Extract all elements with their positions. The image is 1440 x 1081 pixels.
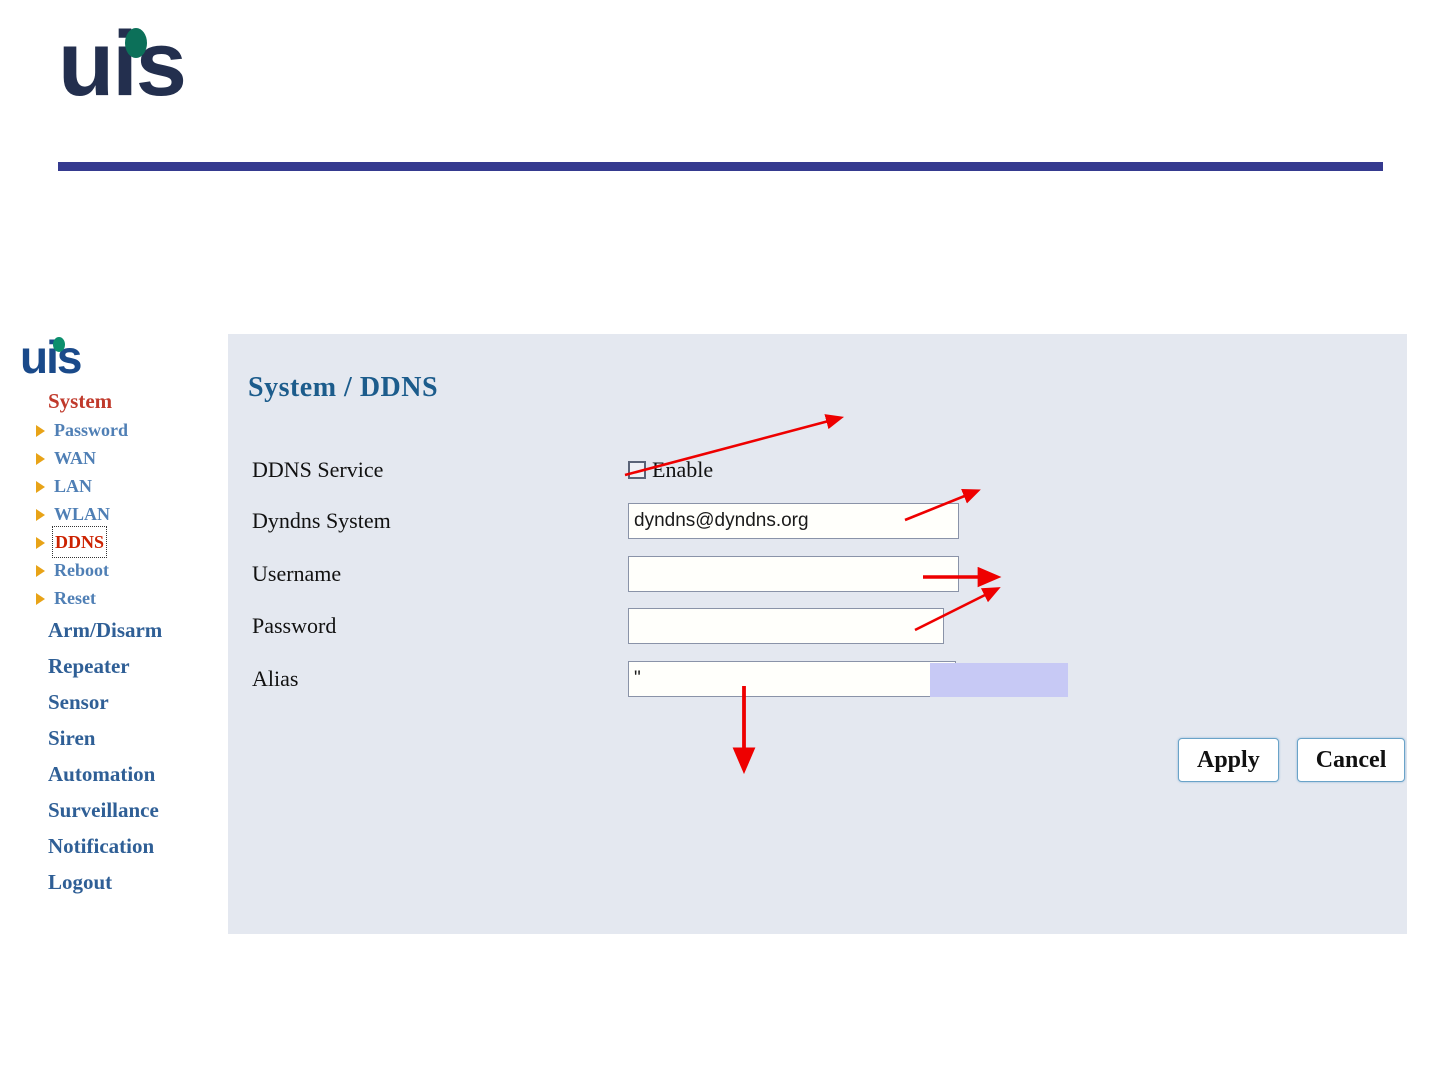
- sidebar-group-title-system: System: [0, 386, 220, 416]
- sidebar-mainnav: Arm/Disarm Repeater Sensor Siren Automat…: [0, 612, 220, 900]
- content-panel: System / DDNS DDNS Service Enable Dyndns…: [228, 334, 1407, 934]
- sidebar-item-lan[interactable]: LAN: [0, 472, 220, 500]
- form-row-alias: Alias: [252, 661, 1352, 697]
- sidebar-item-notification[interactable]: Notification: [0, 828, 220, 864]
- sidebar-item-label: Password: [54, 416, 128, 444]
- sidebar: uis System Password WAN LAN WLAN DDNS Re…: [0, 334, 220, 900]
- triangle-bullet-icon: [36, 565, 45, 577]
- logo-dot-icon: [125, 28, 147, 58]
- alias-input[interactable]: [628, 661, 956, 697]
- triangle-bullet-icon: [36, 537, 45, 549]
- sidebar-item-label: WLAN: [54, 500, 110, 528]
- triangle-bullet-icon: [36, 509, 45, 521]
- label-alias: Alias: [252, 661, 298, 697]
- label-ddns-service: DDNS Service: [252, 452, 383, 488]
- sidebar-logo-dot-icon: [53, 337, 65, 352]
- company-logo: uis: [58, 18, 218, 133]
- sidebar-logo-wordmark: uis: [20, 331, 80, 383]
- sidebar-item-wan[interactable]: WAN: [0, 444, 220, 472]
- label-dyndns-system: Dyndns System: [252, 503, 391, 539]
- sidebar-item-label: DDNS: [54, 528, 105, 556]
- enable-checkbox-wrapper[interactable]: Enable: [628, 452, 713, 488]
- sidebar-item-label: LAN: [54, 472, 92, 500]
- dyndns-system-input[interactable]: [628, 503, 959, 539]
- apply-button[interactable]: Apply: [1178, 738, 1279, 782]
- sidebar-item-arm-disarm[interactable]: Arm/Disarm: [0, 612, 220, 648]
- field-dyndns-system: [628, 503, 959, 539]
- sidebar-logo: uis: [20, 334, 220, 386]
- sidebar-item-password[interactable]: Password: [0, 416, 220, 444]
- sidebar-item-ddns[interactable]: DDNS: [0, 528, 220, 556]
- sidebar-item-sensor[interactable]: Sensor: [0, 684, 220, 720]
- username-input[interactable]: [628, 556, 959, 592]
- sidebar-subnav-system: Password WAN LAN WLAN DDNS Reboot Reset: [0, 416, 220, 612]
- sidebar-item-label: Reset: [54, 584, 96, 612]
- form-row-password: Password: [252, 608, 1352, 644]
- sidebar-item-label: Reboot: [54, 556, 109, 584]
- triangle-bullet-icon: [36, 481, 45, 493]
- sidebar-item-automation[interactable]: Automation: [0, 756, 220, 792]
- field-alias: [628, 661, 956, 697]
- enable-checkbox[interactable]: [628, 461, 646, 479]
- sidebar-item-surveillance[interactable]: Surveillance: [0, 792, 220, 828]
- sidebar-item-repeater[interactable]: Repeater: [0, 648, 220, 684]
- panel-actions: Apply Cancel: [1178, 738, 1405, 782]
- sidebar-item-siren[interactable]: Siren: [0, 720, 220, 756]
- sidebar-item-logout[interactable]: Logout: [0, 864, 220, 900]
- sidebar-item-reset[interactable]: Reset: [0, 584, 220, 612]
- triangle-bullet-icon: [36, 593, 45, 605]
- label-password: Password: [252, 608, 336, 644]
- alias-selection-highlight: [930, 663, 1068, 697]
- label-username: Username: [252, 556, 341, 592]
- triangle-bullet-icon: [36, 425, 45, 437]
- enable-checkbox-label: Enable: [652, 457, 713, 483]
- sidebar-item-wlan[interactable]: WLAN: [0, 500, 220, 528]
- form-row-dyndns-system: Dyndns System: [252, 503, 1352, 539]
- password-input[interactable]: [628, 608, 944, 644]
- form-row-username: Username: [252, 556, 1352, 592]
- header-divider: [58, 162, 1383, 171]
- page-title: System / DDNS: [248, 372, 438, 404]
- form-row-ddns-service: DDNS Service Enable: [252, 452, 1352, 488]
- triangle-bullet-icon: [36, 453, 45, 465]
- field-password: [628, 608, 944, 644]
- sidebar-item-reboot[interactable]: Reboot: [0, 556, 220, 584]
- logo-wordmark: uis: [58, 13, 185, 115]
- field-username: [628, 556, 959, 592]
- field-ddns-service: Enable: [628, 452, 713, 488]
- sidebar-item-label: WAN: [54, 444, 96, 472]
- cancel-button[interactable]: Cancel: [1297, 738, 1406, 782]
